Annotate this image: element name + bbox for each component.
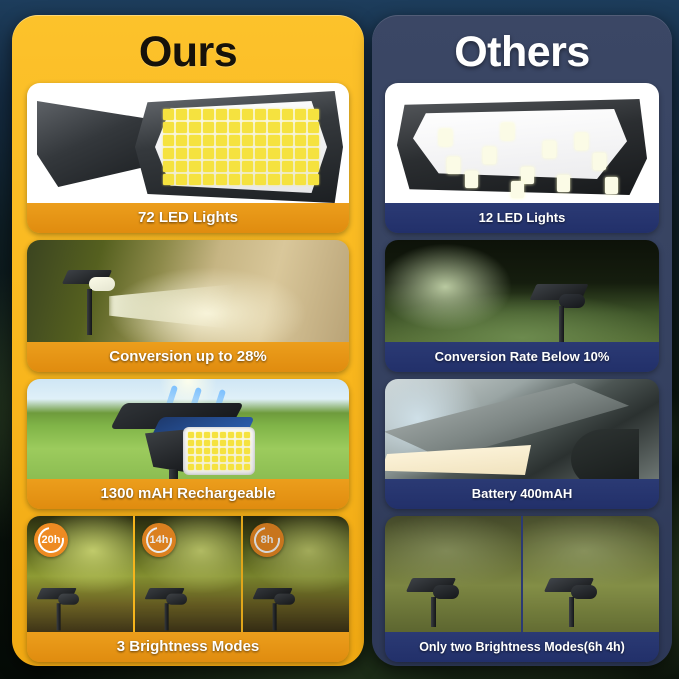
led-dot	[236, 448, 242, 454]
led-dot	[176, 148, 187, 159]
led-dot	[268, 148, 279, 159]
card-ours-modes: 20h 14h	[27, 516, 349, 662]
mode-tile: 8h	[243, 516, 349, 632]
led-dot	[203, 161, 214, 172]
led-dot	[229, 161, 240, 172]
led-dot	[212, 432, 218, 438]
led-dot	[268, 135, 279, 146]
led-dot	[242, 109, 253, 120]
card-ours-battery: 1300 mAH Rechargeable	[27, 379, 349, 509]
led-dot	[236, 464, 242, 470]
led-dot	[196, 448, 202, 454]
led-dot	[242, 135, 253, 146]
led-dot	[255, 122, 266, 133]
lamp-pole-shape	[431, 597, 436, 627]
led-dot	[308, 135, 319, 146]
card-others-conversion: Conversion Rate Below 10%	[385, 240, 659, 372]
mode-tile: 14h	[135, 516, 243, 632]
led-dot	[188, 448, 194, 454]
mode-tile	[523, 516, 659, 632]
panel-ours-cards: 72 LED Lights Conversion up to 28%	[12, 83, 364, 654]
led-grid-small	[183, 427, 255, 475]
lamp-pole-shape	[87, 289, 92, 335]
led-dot	[216, 135, 227, 146]
led-dot	[255, 109, 266, 120]
led-dot	[255, 174, 266, 185]
led-dot	[575, 133, 588, 150]
led-dot	[282, 122, 293, 133]
caption-ours-conversion: Conversion up to 28%	[27, 342, 349, 372]
led-dot	[447, 157, 460, 174]
led-dot	[242, 148, 253, 159]
duration-badge-20h: 20h	[34, 523, 68, 557]
led-dot	[189, 135, 200, 146]
led-dot	[203, 148, 214, 159]
led-dot	[196, 464, 202, 470]
card-others-led: 12 LED Lights	[385, 83, 659, 233]
led-dot	[203, 135, 214, 146]
led-dot	[176, 122, 187, 133]
led-dot	[244, 456, 250, 462]
led-dot	[244, 464, 250, 470]
led-dot	[557, 175, 570, 192]
led-dot	[236, 432, 242, 438]
led-dot	[163, 122, 174, 133]
media-ours-led-closeup	[27, 83, 349, 203]
led-dot	[204, 448, 210, 454]
led-dot	[216, 122, 227, 133]
card-ours-led: 72 LED Lights	[27, 83, 349, 233]
mode-tile	[385, 516, 523, 632]
lamp-pole-shape	[169, 469, 178, 479]
led-dot	[176, 109, 187, 120]
led-dot	[212, 456, 218, 462]
media-others-solarpanel-closeup	[385, 379, 659, 479]
caption-others-led: 12 LED Lights	[385, 203, 659, 233]
led-dot	[593, 153, 606, 170]
lamp-body-shape	[571, 429, 639, 479]
led-dot	[242, 161, 253, 172]
led-dot	[268, 109, 279, 120]
led-dot	[228, 448, 234, 454]
led-dot	[196, 456, 202, 462]
led-dot	[196, 432, 202, 438]
led-dot	[204, 432, 210, 438]
led-dot	[203, 109, 214, 120]
caption-ours-modes: 3 Brightness Modes	[27, 632, 349, 662]
led-dot	[242, 174, 253, 185]
caption-others-conversion: Conversion Rate Below 10%	[385, 342, 659, 372]
caption-ours-battery: 1300 mAH Rechargeable	[27, 479, 349, 509]
led-dot	[295, 135, 306, 146]
led-dot	[176, 174, 187, 185]
led-dot	[220, 456, 226, 462]
led-dot	[216, 161, 227, 172]
caption-others-modes: Only two Brightness Modes(6h 4h)	[385, 632, 659, 662]
led-dot	[212, 440, 218, 446]
led-dot	[511, 181, 524, 198]
led-dot	[308, 161, 319, 172]
led-dot	[308, 122, 319, 133]
led-dot	[255, 148, 266, 159]
panel-others-cards: 12 LED Lights Conversion Rate Below 10%	[372, 83, 672, 654]
led-dot	[255, 161, 266, 172]
led-dot	[163, 174, 174, 185]
led-dot	[282, 148, 293, 159]
panel-ours: Ours 72 LED Lights	[12, 15, 364, 666]
lamp-lens-shape	[166, 594, 187, 605]
led-dot	[196, 440, 202, 446]
led-dot	[189, 161, 200, 172]
lamp-lens-shape	[433, 585, 459, 599]
caption-others-battery: Battery 400mAH	[385, 479, 659, 509]
led-dot	[220, 448, 226, 454]
led-dot	[244, 448, 250, 454]
card-others-modes: Only two Brightness Modes(6h 4h)	[385, 516, 659, 662]
led-dot	[295, 148, 306, 159]
led-dot	[216, 174, 227, 185]
media-others-led-closeup	[385, 83, 659, 203]
led-dot	[189, 122, 200, 133]
lamp-lens-shape	[89, 277, 115, 291]
infographic-canvas: Ours 72 LED Lights	[0, 0, 679, 679]
led-dot	[282, 174, 293, 185]
led-dot	[188, 464, 194, 470]
led-dot	[163, 148, 174, 159]
led-dot	[295, 161, 306, 172]
lamp-pole-shape	[559, 306, 564, 342]
led-dot	[295, 109, 306, 120]
mode-tile: 20h	[27, 516, 135, 632]
caption-ours-led: 72 LED Lights	[27, 203, 349, 233]
led-dot	[216, 148, 227, 159]
led-dot	[282, 161, 293, 172]
led-dot	[228, 432, 234, 438]
led-dot	[282, 135, 293, 146]
led-dot	[228, 456, 234, 462]
panel-others-title: Others	[372, 31, 672, 74]
led-dot	[204, 440, 210, 446]
duration-badge-8h: 8h	[250, 523, 284, 557]
led-dot	[255, 135, 266, 146]
led-dot	[229, 135, 240, 146]
led-dot	[176, 161, 187, 172]
led-dot	[163, 109, 174, 120]
light-beam	[109, 280, 279, 334]
card-others-battery: Battery 400mAH	[385, 379, 659, 509]
led-dot	[605, 177, 618, 194]
led-dot	[308, 148, 319, 159]
lamp-lens-shape	[58, 594, 79, 605]
led-dot	[268, 122, 279, 133]
led-dot	[176, 135, 187, 146]
led-dot	[236, 440, 242, 446]
led-dot	[268, 161, 279, 172]
led-dot	[188, 456, 194, 462]
led-dot	[163, 135, 174, 146]
led-dot	[236, 456, 242, 462]
led-dot	[228, 464, 234, 470]
led-dot	[204, 464, 210, 470]
led-grid-12	[425, 119, 615, 165]
led-dot	[501, 123, 514, 140]
led-dot	[295, 174, 306, 185]
led-dot	[229, 109, 240, 120]
media-ours-path-scene	[27, 240, 349, 342]
led-dot	[204, 456, 210, 462]
led-dot	[483, 147, 496, 164]
duration-badge-14h: 14h	[142, 523, 176, 557]
led-dot	[244, 440, 250, 446]
led-dot	[189, 174, 200, 185]
led-dot	[295, 122, 306, 133]
lamp-lens-shape	[274, 594, 295, 605]
led-dot	[229, 122, 240, 133]
led-dot	[244, 432, 250, 438]
led-dot	[188, 440, 194, 446]
led-dot	[220, 440, 226, 446]
led-grid-72	[163, 109, 319, 185]
led-dot	[212, 448, 218, 454]
led-dot	[308, 174, 319, 185]
led-dot	[229, 174, 240, 185]
led-dot	[268, 174, 279, 185]
lamp-pole-shape	[569, 597, 574, 627]
led-dot	[308, 109, 319, 120]
media-ours-modes-triptych: 20h 14h	[27, 516, 349, 632]
panel-ours-title: Ours	[12, 31, 364, 74]
led-dot	[465, 171, 478, 188]
led-dot	[220, 464, 226, 470]
media-others-modes-duo	[385, 516, 659, 632]
led-dot	[220, 432, 226, 438]
led-dot	[189, 148, 200, 159]
media-others-dark-scene	[385, 240, 659, 342]
led-dot	[242, 122, 253, 133]
led-dot	[282, 109, 293, 120]
led-dot	[439, 129, 452, 146]
lamp-pole-shape	[165, 603, 169, 630]
led-dot	[163, 161, 174, 172]
lamp-lens-shape	[571, 585, 597, 599]
led-dot	[216, 109, 227, 120]
card-ours-conversion: Conversion up to 28%	[27, 240, 349, 372]
led-dot	[203, 174, 214, 185]
led-dot	[203, 122, 214, 133]
led-dot	[188, 432, 194, 438]
panel-others: Others 12 LED Lights	[372, 15, 672, 666]
lamp-pole-shape	[57, 603, 61, 630]
media-ours-golf-scene	[27, 379, 349, 479]
led-dot	[212, 464, 218, 470]
lamp-pole-shape	[273, 603, 277, 630]
led-dot	[543, 141, 556, 158]
led-dot	[189, 109, 200, 120]
led-dot	[229, 148, 240, 159]
led-dot	[228, 440, 234, 446]
